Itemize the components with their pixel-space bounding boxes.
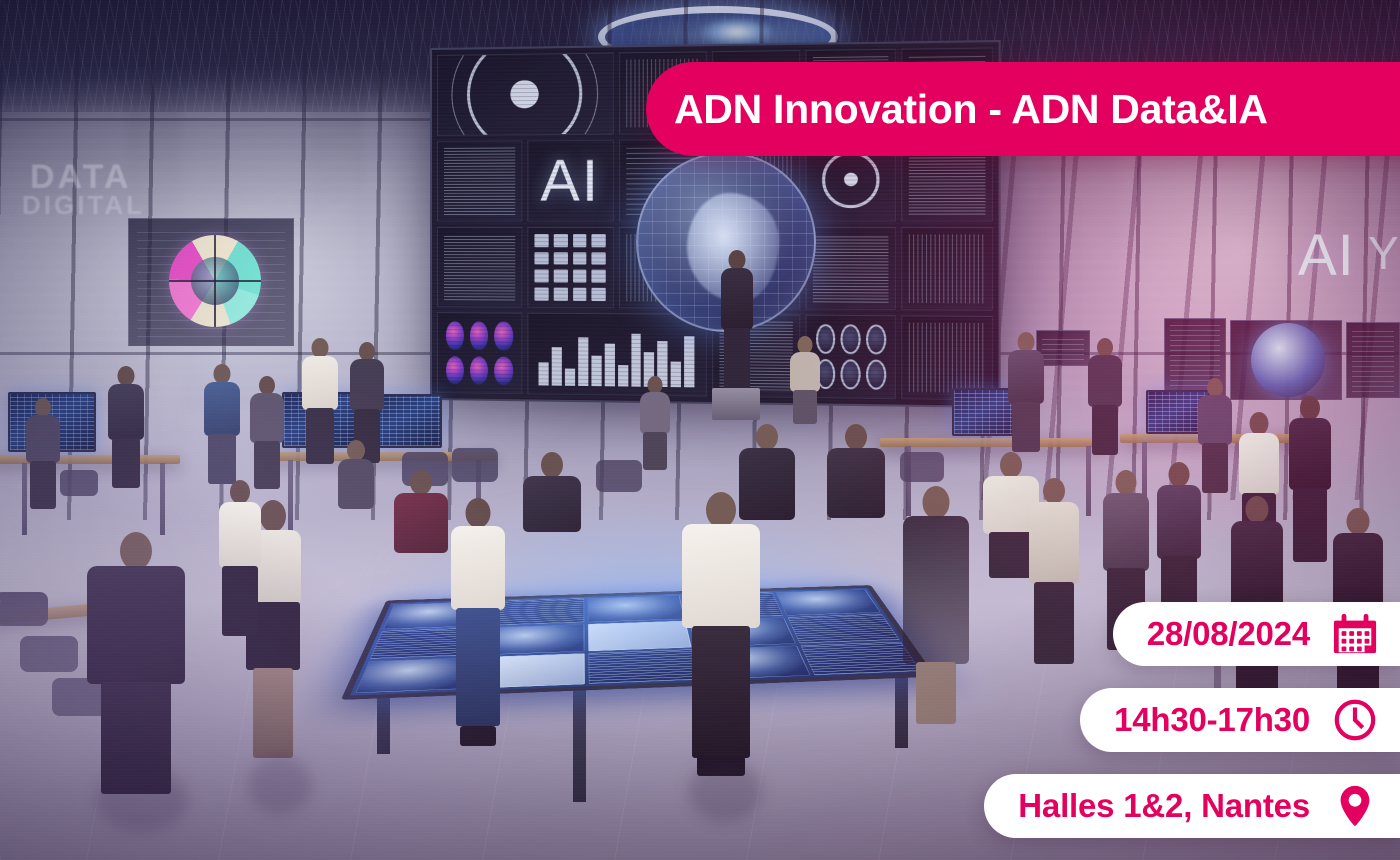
event-info-badges: 28/08/2024 — [984, 602, 1400, 838]
date-badge: 28/08/2024 — [1113, 602, 1400, 666]
event-poster: DATA DIGITAL — [0, 0, 1400, 860]
title-banner: ADN Innovation - ADN Data&IA — [646, 62, 1400, 156]
location-label: Halles 1&2, Nantes — [1018, 787, 1310, 825]
clock-icon — [1332, 697, 1378, 743]
calendar-icon — [1332, 611, 1378, 657]
location-badge: Halles 1&2, Nantes — [984, 774, 1400, 838]
time-badge: 14h30-17h30 — [1080, 688, 1400, 752]
map-pin-icon — [1332, 783, 1378, 829]
page-title: ADN Innovation - ADN Data&IA — [674, 86, 1268, 133]
time-label: 14h30-17h30 — [1114, 701, 1310, 739]
date-label: 28/08/2024 — [1147, 615, 1310, 653]
